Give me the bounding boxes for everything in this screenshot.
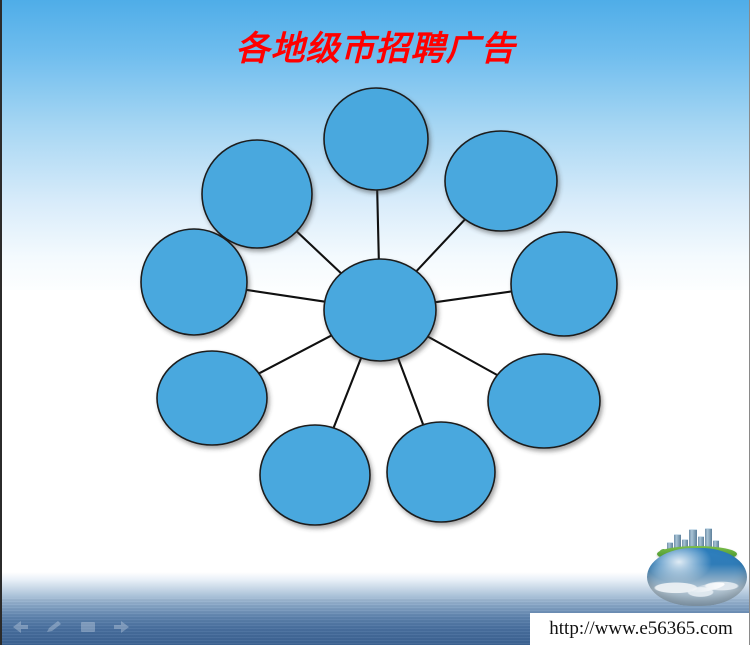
spoke-to-node-left bbox=[244, 290, 329, 303]
menu-box-icon[interactable] bbox=[78, 619, 98, 635]
presentation-slide: 各地级市招聘广告 bbox=[0, 0, 750, 645]
hub-and-spoke-diagram bbox=[2, 0, 750, 645]
spoke-to-node-upper-left bbox=[295, 230, 342, 275]
node-upper-right[interactable] bbox=[445, 131, 557, 231]
globe-city-logo bbox=[647, 528, 747, 606]
node-left[interactable] bbox=[141, 229, 247, 335]
spoke-to-node-upper-right bbox=[415, 218, 466, 272]
hub-node-group bbox=[324, 259, 436, 361]
spoke-to-node-right bbox=[431, 291, 514, 303]
watermark-url: http://www.e56365.com bbox=[530, 613, 750, 645]
spoke-to-node-bottom-right bbox=[398, 358, 423, 425]
node-lower-left[interactable] bbox=[157, 351, 267, 445]
node-bottom-left[interactable] bbox=[260, 425, 370, 525]
node-lower-right[interactable] bbox=[488, 354, 600, 448]
node-top[interactable] bbox=[324, 88, 428, 190]
node-right[interactable] bbox=[511, 232, 617, 336]
spoke-to-node-top bbox=[377, 188, 379, 258]
spoke-to-node-lower-right bbox=[425, 335, 501, 377]
presentation-nav-bar[interactable] bbox=[10, 614, 190, 640]
pen-tool-icon[interactable] bbox=[44, 619, 64, 635]
globe-sphere bbox=[647, 548, 747, 606]
node-upper-left[interactable] bbox=[202, 140, 312, 248]
node-bottom-right[interactable] bbox=[387, 422, 495, 522]
prev-slide-icon[interactable] bbox=[10, 619, 30, 635]
spoke-to-node-bottom-left bbox=[334, 358, 362, 428]
globe-highlight bbox=[691, 581, 726, 595]
next-slide-icon[interactable] bbox=[112, 619, 132, 635]
hub-node[interactable] bbox=[324, 259, 436, 361]
spoke-to-node-lower-left bbox=[255, 334, 334, 375]
